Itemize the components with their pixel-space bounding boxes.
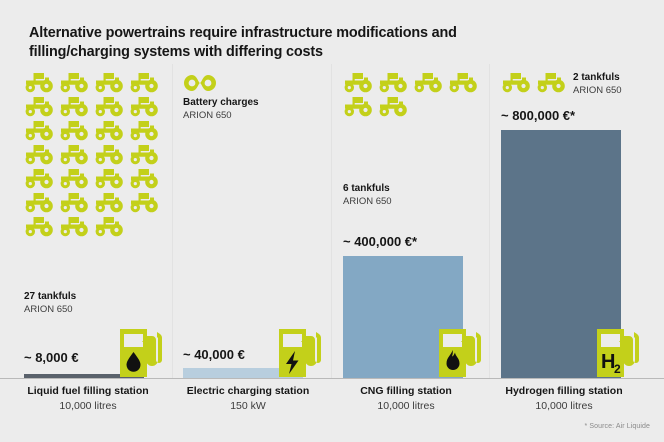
unit-count-label: 27 tankfuls	[24, 290, 76, 303]
tractor-icon	[129, 144, 160, 165]
tractor-icon	[343, 96, 374, 117]
fuel-pump-droplet-icon	[118, 322, 162, 377]
chart-column-cng: 6 tankfuls ARION 650 ~ 400,000 €*	[337, 66, 492, 378]
bar-value-cng: ~ 400,000 €*	[343, 234, 417, 249]
tractor-icon	[129, 120, 160, 141]
source-note: * Source: Air Liquide	[584, 423, 650, 430]
tractor-icon	[129, 96, 160, 117]
tractor-icon	[378, 96, 409, 117]
unit-count-label: 6 tankfuls	[343, 182, 392, 195]
tractor-icon	[59, 168, 90, 189]
tractor-icon	[59, 192, 90, 213]
tractor-icon	[94, 120, 125, 141]
tractor-icon	[94, 168, 125, 189]
tractor-pictogram-group-liquid	[24, 72, 164, 237]
bar-value-hydrogen: ~ 800,000 €*	[501, 108, 575, 123]
unit-model-label: ARION 650	[183, 109, 259, 122]
tractor-icon	[59, 216, 90, 237]
tractor-icon	[343, 72, 374, 93]
category-name: Hydrogen filling station	[474, 384, 654, 399]
unit-model-label: ARION 650	[343, 195, 392, 208]
tractor-icon	[24, 168, 55, 189]
category-label-hydrogen: Hydrogen filling station 10,000 litres	[474, 384, 654, 414]
tractor-icon	[59, 96, 90, 117]
tractor-icon	[536, 72, 567, 93]
tractor-icon	[59, 72, 90, 93]
unit-caption-electric: Battery charges ARION 650	[183, 96, 259, 122]
tractor-icon	[24, 96, 55, 117]
category-subtitle: 10,000 litres	[474, 399, 654, 414]
charging-pump-bolt-icon	[277, 322, 321, 377]
category-subtitle: 10,000 litres	[316, 399, 496, 414]
chart-baseline	[0, 378, 664, 379]
tractor-icon	[501, 72, 532, 93]
tractor-icon	[24, 72, 55, 93]
tractor-icon	[129, 168, 160, 189]
svg-text:2: 2	[614, 362, 621, 376]
tractor-icon	[59, 144, 90, 165]
tractor-icon	[94, 216, 125, 237]
tractor-icon	[129, 192, 160, 213]
bar-value-electric: ~ 40,000 €	[183, 347, 245, 362]
category-name: Electric charging station	[158, 384, 338, 399]
fuel-pump-flame-icon	[437, 322, 481, 377]
tractor-icon	[94, 144, 125, 165]
category-label-liquid-fuel: Liquid fuel filling station 10,000 litre…	[0, 384, 178, 414]
tractor-icon	[448, 72, 479, 93]
tractor-icon	[59, 120, 90, 141]
chart-column-hydrogen: 2 tankfuls ARION 650 ~ 800,000 €* H 2	[495, 66, 650, 378]
category-label-electric: Electric charging station 150 kW	[158, 384, 338, 414]
bar-value-liquid: ~ 8,000 €	[24, 350, 79, 365]
category-subtitle: 150 kW	[158, 399, 338, 414]
title-line-1: Alternative powertrains require infrastr…	[29, 24, 589, 43]
unit-caption-cng: 6 tankfuls ARION 650	[343, 182, 392, 208]
infinity-icon	[183, 72, 217, 94]
chart-column-electric: Battery charges ARION 650 ~ 40,000 €	[177, 66, 332, 378]
title-line-2: filling/charging systems with differing …	[29, 43, 589, 62]
tractor-icon	[94, 192, 125, 213]
category-subtitle: 10,000 litres	[0, 399, 178, 414]
unit-count-label: 2 tankfuls	[573, 71, 622, 84]
category-name: CNG filling station	[316, 384, 496, 399]
category-name: Liquid fuel filling station	[0, 384, 178, 399]
tractor-icon	[378, 72, 409, 93]
tractor-icon	[24, 192, 55, 213]
unit-caption-hydrogen: 2 tankfuls ARION 650	[573, 71, 622, 97]
tractor-icon	[94, 72, 125, 93]
unit-count-label: Battery charges	[183, 96, 259, 109]
tractor-icon	[94, 96, 125, 117]
unit-model-label: ARION 650	[573, 84, 622, 97]
tractor-icon	[129, 72, 160, 93]
infographic-canvas: Alternative powertrains require infrastr…	[0, 0, 664, 442]
fuel-pump-h2-icon: H 2	[595, 322, 639, 377]
unit-caption-liquid: 27 tankfuls ARION 650	[24, 290, 76, 316]
page-title: Alternative powertrains require infrastr…	[29, 24, 589, 62]
chart-column-liquid-fuel: 27 tankfuls ARION 650 ~ 8,000 €	[18, 66, 173, 378]
tractor-icon	[413, 72, 444, 93]
unit-model-label: ARION 650	[24, 303, 76, 316]
tractor-icon	[24, 216, 55, 237]
tractor-pictogram-group-cng	[343, 72, 483, 117]
category-label-cng: CNG filling station 10,000 litres	[316, 384, 496, 414]
tractor-icon	[24, 120, 55, 141]
tractor-icon	[24, 144, 55, 165]
